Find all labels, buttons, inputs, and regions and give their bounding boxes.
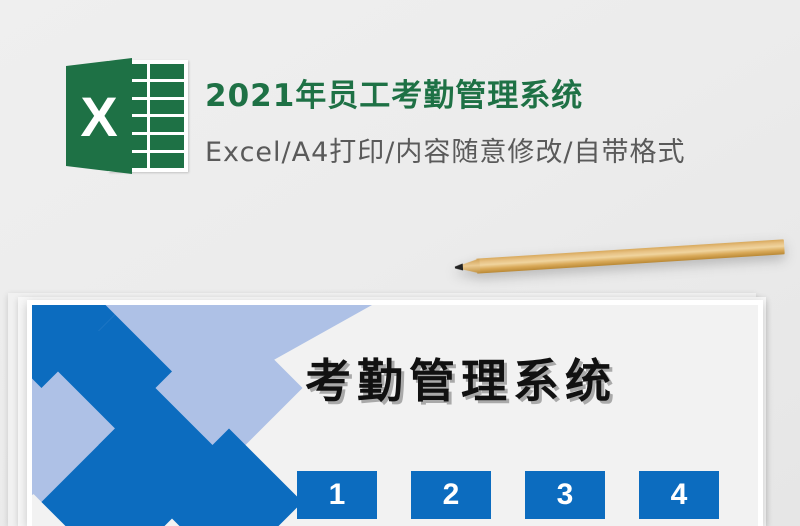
excel-logo: X [66,58,188,174]
number-button-2[interactable]: 2 [411,471,491,519]
header-banner: X 2021年员工考勤管理系统 Excel/A4打印/内容随意修改/自带格式 [0,0,800,250]
excel-grid-cell [150,117,185,132]
excel-logo-letter: X [66,58,132,174]
header-title: 2021年员工考勤管理系统 [205,70,583,115]
excel-grid-cell [150,64,185,79]
preview-canvas: X 2021年员工考勤管理系统 Excel/A4打印/内容随意修改/自带格式 [0,0,800,526]
number-button-3[interactable]: 3 [525,471,605,519]
number-button-4[interactable]: 4 [639,471,719,519]
number-button-1[interactable]: 1 [297,471,377,519]
excel-grid-cell [150,153,185,168]
header-subtitle: Excel/A4打印/内容随意修改/自带格式 [205,130,685,169]
pencil-graphite-tip [455,264,463,271]
excel-grid-cell [150,100,185,115]
document-number-buttons: 1 2 3 4 [297,471,719,519]
excel-grid-cell [150,135,185,150]
excel-grid-cell [150,82,185,97]
document-title: 考勤管理系统 [305,345,617,411]
